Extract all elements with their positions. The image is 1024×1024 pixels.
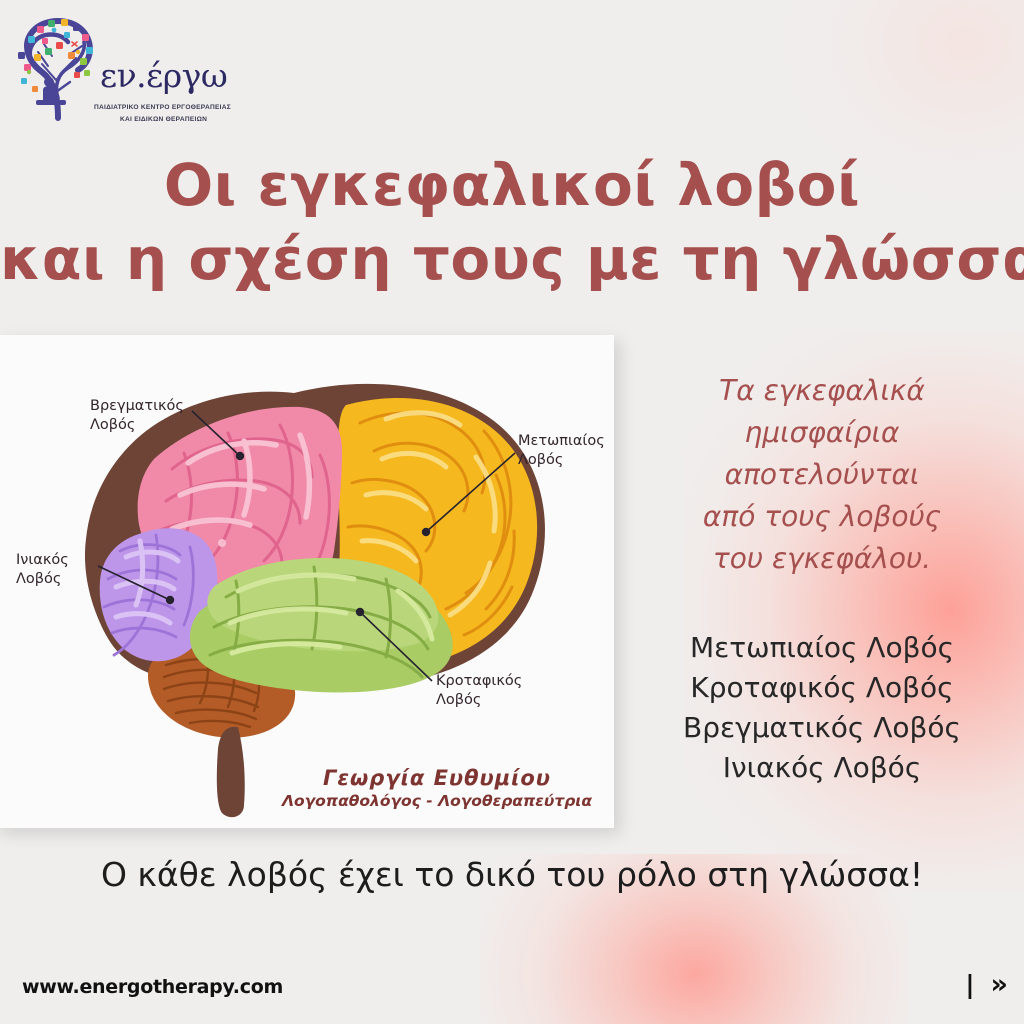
intro-paragraph: Τα εγκεφαλικά ημισφαίρια αποτελούνται απ… xyxy=(636,370,1008,580)
author-name: Γεωργία Ευθυμίου xyxy=(282,766,592,790)
intro-line-1: Τα εγκεφαλικά xyxy=(636,370,1008,412)
brain-card: Βρεγματικός Λοβός Μετωπιαίος Λοβός Ινιακ… xyxy=(0,335,614,828)
author-signature: Γεωργία Ευθυμίου Λογοπαθολόγος - Λογοθερ… xyxy=(282,766,592,810)
intro-line-2: ημισφαίρια xyxy=(636,412,1008,454)
brand-tagline-line1: ΠΑΙΔΙΑΤΡΙΚΟ ΚΕΝΤΡΟ ΕΡΓΟΘΕΡΑΠΕΙΑΣ xyxy=(94,104,231,111)
page-title: Οι εγκεφαλικοί λοβοί και η σχέση τους με… xyxy=(0,148,1024,296)
intro-line-4: από τους λοβούς xyxy=(636,496,1008,538)
label-parietal-lobe: Βρεγματικός Λοβός xyxy=(90,397,184,435)
label-frontal-lobe: Μετωπιαίος Λοβός xyxy=(518,432,605,470)
footer-icon-group: | » xyxy=(965,970,1008,1000)
label-occipital-line1: Ινιακός xyxy=(16,551,69,570)
label-temporal-lobe: Κροταφικός Λοβός xyxy=(436,672,522,710)
lobe-name-list: Μετωπιαίος Λοβός Κροταφικός Λοβός Βρεγμα… xyxy=(636,628,1008,788)
website-url[interactable]: www.energotherapy.com xyxy=(22,976,283,998)
label-parietal-line1: Βρεγματικός xyxy=(90,397,184,416)
double-chevron-right-icon[interactable]: » xyxy=(991,970,1008,1000)
list-item: Ινιακός Λοβός xyxy=(636,748,1008,788)
bottom-caption: Ο κάθε λοβός έχει το δικό του ρόλο στη γ… xyxy=(0,855,1024,894)
vertical-bar-icon: | xyxy=(965,970,974,1000)
title-line-2: και η σχέση τους με τη γλώσσα xyxy=(0,222,1024,296)
intro-line-3: αποτελούνται xyxy=(636,454,1008,496)
list-item: Μετωπιαίος Λοβός xyxy=(636,628,1008,668)
poster-canvas: εν.έργω ΠΑΙΔΙΑΤΡΙΚΟ ΚΕΝΤΡΟ ΕΡΓΟΘΕΡΑΠΕΙΑΣ… xyxy=(0,0,1024,1024)
list-item: Κροταφικός Λοβός xyxy=(636,668,1008,708)
intro-line-5: του εγκεφάλου. xyxy=(636,538,1008,580)
list-item: Βρεγματικός Λοβός xyxy=(636,708,1008,748)
author-role: Λογοπαθολόγος - Λογοθεραπεύτρια xyxy=(282,792,592,810)
label-frontal-line2: Λοβός xyxy=(518,451,605,470)
footer-bar: www.energotherapy.com | » xyxy=(0,962,1024,1024)
brand-tagline-line2: ΚΑΙ ΕΙΔΙΚΩΝ ΘΕΡΑΠΕΙΩΝ xyxy=(120,116,207,123)
label-temporal-line1: Κροταφικός xyxy=(436,672,522,691)
label-frontal-line1: Μετωπιαίος xyxy=(518,432,605,451)
title-line-1: Οι εγκεφαλικοί λοβοί xyxy=(0,148,1024,222)
brand-logo[interactable]: εν.έργω ΠΑΙΔΙΑΤΡΙΚΟ ΚΕΝΤΡΟ ΕΡΓΟΘΕΡΑΠΕΙΑΣ… xyxy=(8,8,248,130)
label-temporal-line2: Λοβός xyxy=(436,691,522,710)
label-occipital-lobe: Ινιακός Λοβός xyxy=(16,551,69,589)
label-parietal-line2: Λοβός xyxy=(90,416,184,435)
label-occipital-line2: Λοβός xyxy=(16,570,69,589)
right-text-panel: Τα εγκεφαλικά ημισφαίρια αποτελούνται απ… xyxy=(636,370,1008,788)
tree-with-child-icon xyxy=(12,8,104,126)
brand-wordmark: εν.έργω xyxy=(100,56,227,95)
